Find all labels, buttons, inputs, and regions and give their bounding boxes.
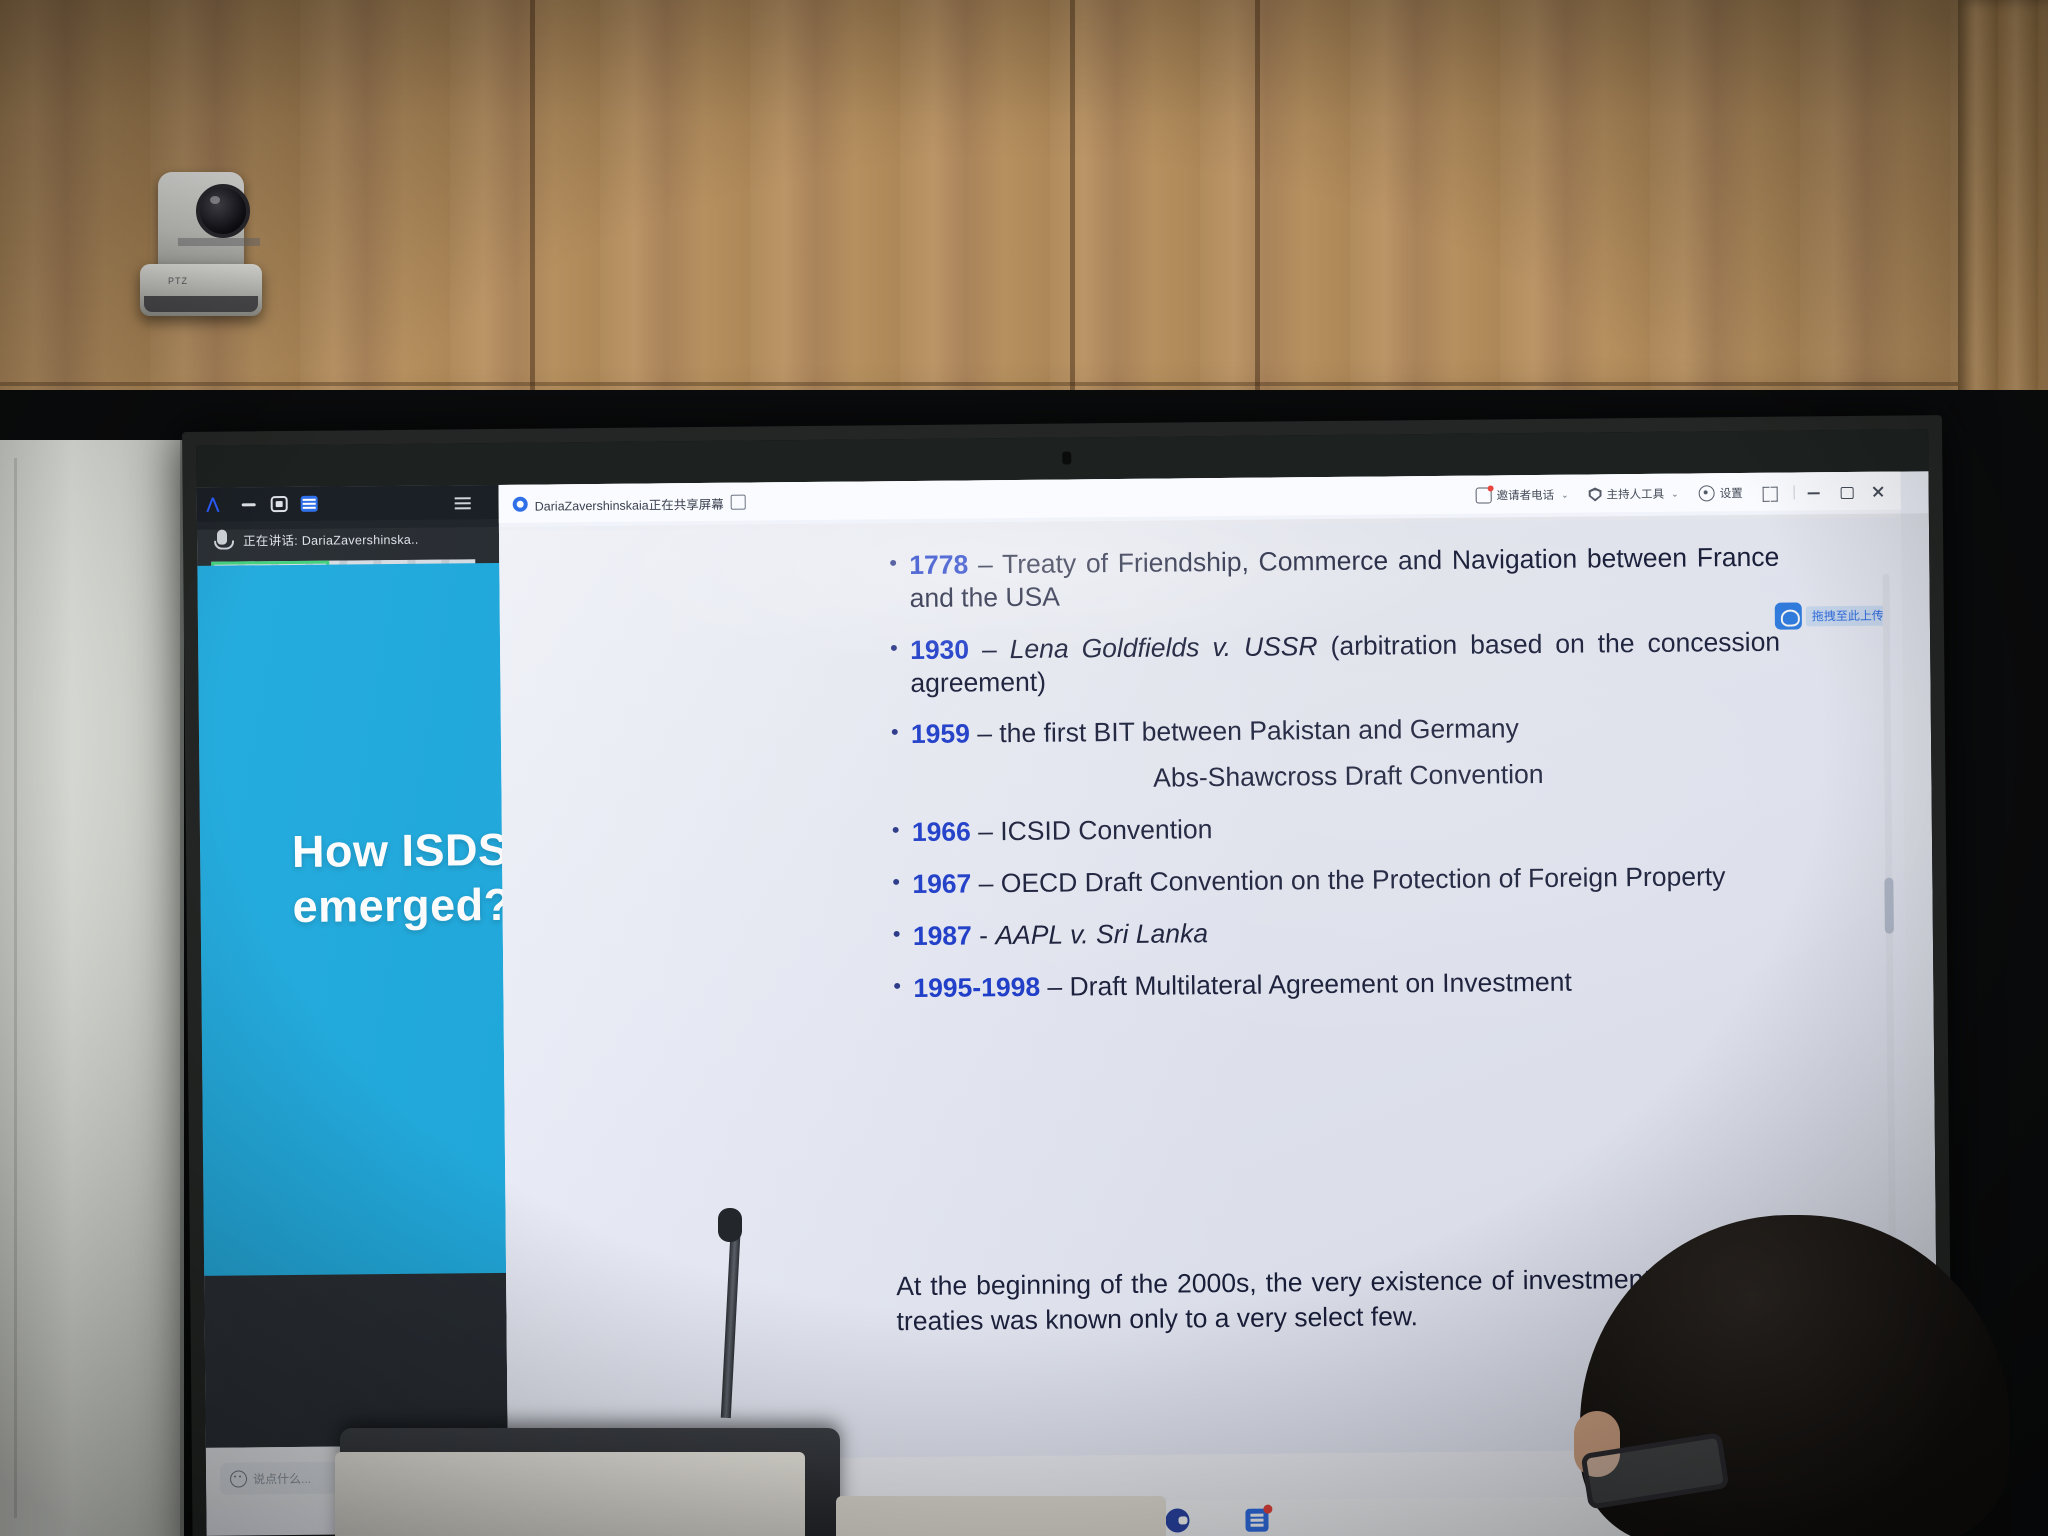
desk-item: [836, 1496, 1166, 1536]
active-speaker-bar: 正在讲话: DariaZavershinska..: [197, 519, 499, 558]
wall-right-column: [1958, 0, 2048, 430]
bullet-dash: –: [971, 816, 1001, 846]
apps-icon: [1245, 1509, 1268, 1532]
bullet-icon: •: [892, 816, 912, 849]
presenter-avatar: [513, 497, 528, 512]
bullet-icon: •: [893, 920, 913, 953]
tool-settings[interactable]: 设置: [1699, 485, 1743, 501]
bullet-year: 1778: [909, 549, 968, 580]
list-item: • 1930 – Lena Goldfields v. USSR (arbitr…: [890, 625, 1781, 699]
camera-brand-label: PTZ: [168, 276, 188, 286]
bullet-year: 1966: [912, 817, 971, 848]
close-icon[interactable]: [1865, 481, 1891, 503]
stop-share-icon[interactable]: [731, 495, 746, 510]
wps-upload-badge[interactable]: 拖拽至此上传: [1775, 602, 1890, 630]
bullet-text: the first BIT between Pakistan and Germa…: [999, 714, 1519, 749]
chevron-down-icon: ⌄: [1671, 488, 1679, 499]
bullet-icon: •: [891, 718, 911, 751]
emoji-icon[interactable]: [230, 1470, 247, 1487]
ai-assistant-icon: [1165, 1508, 1189, 1532]
tencent-meeting-logo-icon: ⋀: [207, 499, 227, 511]
slide-center-line: Abs-Shawcross Draft Convention: [915, 756, 1781, 797]
bullet-year: 1930: [910, 634, 969, 665]
tool-settings-label: 设置: [1720, 485, 1743, 501]
bullet-text: ICSID Convention: [1000, 814, 1212, 846]
scrollbar-thumb[interactable]: [1884, 878, 1894, 934]
bullet-icon: •: [889, 549, 910, 615]
minimize-icon[interactable]: [1801, 481, 1827, 503]
bullet-text: OECD Draft Convention on the Protection …: [1001, 861, 1726, 898]
bullet-dash: –: [969, 634, 1010, 664]
list-item: • 1995-1998 – Draft Multilateral Agreeme…: [893, 963, 1783, 1004]
microphone-head-icon: [718, 1208, 742, 1242]
audience-person: [1580, 1215, 2010, 1536]
menu-icon[interactable]: [455, 494, 472, 510]
divider: [1794, 486, 1795, 500]
bullet-year: 1959: [911, 719, 970, 750]
wps-cloud-icon: [1775, 602, 1802, 629]
bullet-dash: –: [968, 549, 1002, 579]
screenshot-root: PTZ ⋀ 正在讲话: DariaZaver: [0, 0, 2048, 1536]
layout-icon[interactable]: [301, 496, 318, 512]
tool-host-label: 主持人工具: [1607, 486, 1665, 503]
tool-host[interactable]: 主持人工具 ⌄: [1589, 486, 1679, 503]
wps-upload-label: 拖拽至此上传: [1806, 605, 1890, 626]
bullet-dash: –: [1040, 971, 1070, 1001]
list-item: • 1967 – OECD Draft Convention on the Pr…: [892, 860, 1782, 901]
gear-icon: [1699, 485, 1715, 501]
bullet-case-name: AAPL v. Sri Lanka: [995, 918, 1208, 950]
chevron-down-icon: ⌄: [1561, 489, 1569, 500]
room-wall: [0, 0, 2048, 400]
list-item: • 1959 – the first BIT between Pakistan …: [891, 710, 1781, 751]
bullet-dash: –: [970, 719, 1000, 749]
minimize-icon[interactable]: [241, 496, 258, 512]
bullet-icon: •: [893, 972, 913, 1005]
list-item: • 1987 - AAPL v. Sri Lanka: [893, 912, 1783, 953]
bullet-case-name: Lena Goldfields v. USSR: [1010, 631, 1318, 664]
meeting-titlebar: ⋀: [197, 485, 499, 522]
bullet-icon: •: [890, 634, 911, 700]
list-item: • 1966 – ICSID Convention: [892, 808, 1782, 849]
tool-invite-label: 邀请者电话: [1496, 487, 1554, 504]
tool-invite[interactable]: 邀请者电话 ⌄: [1475, 487, 1568, 504]
bullet-text: Draft Multilateral Agreement on Investme…: [1069, 966, 1572, 1001]
bullet-year: 1967: [912, 868, 971, 899]
laptop: [335, 1452, 805, 1536]
share-status-label: DariaZavershinskaia正在共享屏幕: [535, 494, 724, 515]
bullet-icon: •: [892, 868, 912, 901]
maximize-icon[interactable]: [1833, 481, 1859, 503]
restore-icon[interactable]: [271, 496, 288, 512]
list-item: • 1778 – Treaty of Friendship, Commerce …: [889, 541, 1780, 615]
chat-placeholder: 说点什么...: [253, 1470, 311, 1488]
microphone-icon: [217, 530, 227, 545]
slide-bullet-list: • 1778 – Treaty of Friendship, Commerce …: [889, 541, 1784, 1024]
shield-icon: [1589, 487, 1602, 501]
left-cabinet: [0, 440, 184, 1536]
display-sensor-icon: [1062, 451, 1071, 464]
bullet-year: 1995-1998: [913, 972, 1040, 1003]
tool-fullscreen[interactable]: [1763, 486, 1778, 499]
bullet-dash: –: [971, 868, 1001, 898]
window-tools: 邀请者电话 ⌄ 主持人工具 ⌄ 设置: [1455, 481, 1890, 507]
bullet-text: Treaty of Friendship, Commerce and Navig…: [909, 542, 1779, 613]
fullscreen-icon: [1763, 486, 1778, 499]
invite-icon: [1475, 487, 1491, 503]
bullet-dash: -: [972, 920, 996, 950]
bullet-year: 1987: [913, 920, 972, 951]
toolbar-button-apps[interactable]: 应用: [1220, 1505, 1292, 1536]
ptz-camera-icon: PTZ: [140, 172, 262, 332]
active-speaker-label: 正在讲话: DariaZavershinska..: [243, 529, 419, 550]
